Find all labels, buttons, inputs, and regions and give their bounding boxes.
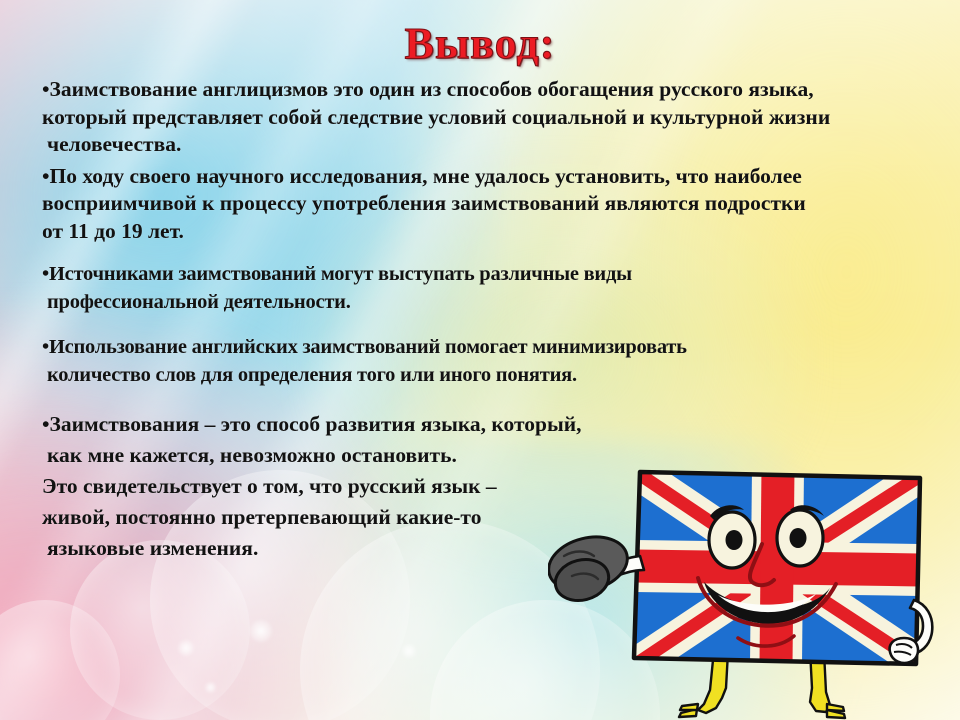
- mascot-right-hand: [890, 638, 918, 663]
- bullet-paragraph-2: •По ходу своего научного исследования, м…: [42, 163, 942, 246]
- paragraph-2-line-2: восприимчивой к процессу употребления за…: [42, 191, 806, 215]
- bullet-paragraph-4: •Использование английских заимствований …: [42, 334, 942, 389]
- paragraph-5-line-5: языковые изменения.: [47, 536, 258, 560]
- paragraph-2-line-1: По ходу своего научного исследования, мн…: [50, 164, 802, 188]
- paragraph-5-line-1: Заимствования – это способ развития язык…: [50, 412, 582, 436]
- paragraph-5-line-3: Это свидетельствует о том, что русский я…: [42, 474, 497, 498]
- paragraph-5-line-4: живой, постоянно претерпевающий какие-то: [42, 505, 481, 529]
- bullet-paragraph-1: •Заимствование англицизмов это один из с…: [42, 76, 942, 159]
- paragraph-5-line-2: как мне кажется, невозможно остановить.: [47, 443, 457, 467]
- slide-title: Вывод:: [0, 18, 960, 69]
- bullet-marker: •: [42, 263, 49, 285]
- slide-body: •Заимствование англицизмов это один из с…: [42, 76, 942, 574]
- paragraph-3-line-2: профессиональной деятельности.: [47, 291, 351, 313]
- bullet-marker: •: [42, 77, 50, 101]
- bullet-paragraph-5: •Заимствования – это способ развития язы…: [42, 409, 942, 564]
- paragraph-2-line-3: от 11 до 19 лет.: [42, 219, 184, 243]
- bullet-marker: •: [42, 412, 50, 436]
- presentation-slide: Вывод: •Заимствование англицизмов это од…: [0, 0, 960, 720]
- paragraph-1-line-3: человечества.: [47, 132, 181, 156]
- paragraph-1-line-2: который представляет собой следствие усл…: [42, 105, 830, 129]
- bullet-marker: •: [42, 336, 49, 358]
- paragraph-4-line-2: количество слов для определения того или…: [47, 364, 577, 386]
- paragraph-4-line-1: Использование английских заимствований п…: [49, 336, 687, 358]
- paragraph-3-line-1: Источниками заимствований могут выступат…: [49, 263, 632, 285]
- paragraph-1-line-1: Заимствование англицизмов это один из сп…: [50, 77, 814, 101]
- bullet-marker: •: [42, 164, 50, 188]
- bullet-paragraph-3: •Источниками заимствований могут выступа…: [42, 261, 942, 316]
